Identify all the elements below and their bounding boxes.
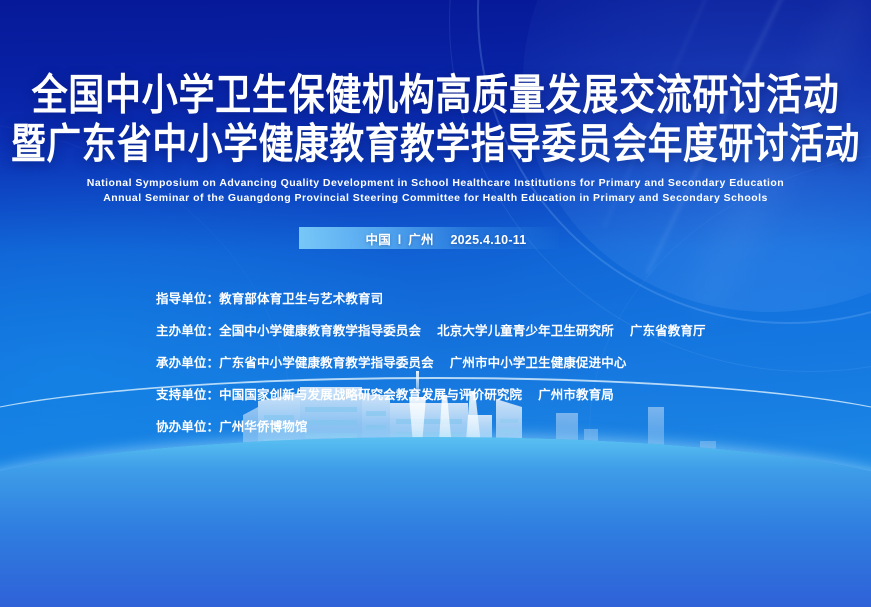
venue-date-banner: 中国 l 广州 2025.4.10-11 xyxy=(299,227,559,249)
organization-value: 教育部体育卫生与艺术教育司 xyxy=(219,288,383,307)
organization-label: 指导单位： xyxy=(156,288,219,307)
poster-title-line-2: 暨广东省中小学健康教育教学指导委员会年度研讨活动 xyxy=(0,124,871,165)
organization-row: 承办单位： 广东省中小学健康教育教学指导委员会 广州市中小学卫生健康促进中心 xyxy=(156,352,706,371)
organization-value: 广州华侨博物馆 xyxy=(219,416,307,435)
organization-values: 全国中小学健康教育教学指导委员会 北京大学儿童青少年卫生研究所 广东省教育厅 xyxy=(219,320,706,339)
organization-row: 支持单位： 中国国家创新与发展战略研究会教育发展与评价研究院 广州市教育局 xyxy=(156,384,706,403)
organization-values: 广东省中小学健康教育教学指导委员会 广州市中小学卫生健康促进中心 xyxy=(219,352,626,371)
conference-poster: 全国中小学卫生保健机构高质量发展交流研讨活动 暨广东省中小学健康教育教学指导委员… xyxy=(0,0,871,607)
organization-label: 协办单位： xyxy=(156,416,219,435)
organization-row: 指导单位： 教育部体育卫生与艺术教育司 xyxy=(156,288,706,307)
organization-label: 支持单位： xyxy=(156,384,219,403)
organization-value: 北京大学儿童青少年卫生研究所 xyxy=(437,320,614,339)
venue-city: 广州 xyxy=(408,233,434,247)
poster-content: 全国中小学卫生保健机构高质量发展交流研讨活动 暨广东省中小学健康教育教学指导委员… xyxy=(0,0,871,607)
organization-values: 教育部体育卫生与艺术教育司 xyxy=(219,288,383,307)
venue-date: 2025.4.10-11 xyxy=(450,233,526,247)
organization-row: 协办单位： 广州华侨博物馆 xyxy=(156,416,706,435)
poster-title-line-1: 全国中小学卫生保健机构高质量发展交流研讨活动 xyxy=(0,74,871,116)
venue-separator: l xyxy=(398,233,402,247)
organization-label: 承办单位： xyxy=(156,352,219,371)
organization-values: 广州华侨博物馆 xyxy=(219,416,307,435)
organization-value: 广东省中小学健康教育教学指导委员会 xyxy=(219,352,434,371)
poster-subtitle-block: National Symposium on Advancing Quality … xyxy=(0,176,871,206)
poster-title-block: 全国中小学卫生保健机构高质量发展交流研讨活动 暨广东省中小学健康教育教学指导委员… xyxy=(0,74,871,162)
venue-country: 中国 xyxy=(366,233,392,247)
poster-subtitle-line-2: Annual Seminar of the Guangdong Provinci… xyxy=(0,191,871,206)
organization-row: 主办单位： 全国中小学健康教育教学指导委员会 北京大学儿童青少年卫生研究所 广东… xyxy=(156,320,706,339)
organization-value: 广州市中小学卫生健康促进中心 xyxy=(450,352,627,371)
organization-value: 广州市教育局 xyxy=(538,384,614,403)
organization-value: 广东省教育厅 xyxy=(630,320,706,339)
organization-values: 中国国家创新与发展战略研究会教育发展与评价研究院 广州市教育局 xyxy=(219,384,614,403)
organization-list: 指导单位： 教育部体育卫生与艺术教育司 主办单位： 全国中小学健康教育教学指导委… xyxy=(156,288,706,448)
organization-value: 中国国家创新与发展战略研究会教育发展与评价研究院 xyxy=(219,384,522,403)
organization-value: 全国中小学健康教育教学指导委员会 xyxy=(219,320,421,339)
organization-label: 主办单位： xyxy=(156,320,219,339)
poster-subtitle-line-1: National Symposium on Advancing Quality … xyxy=(0,176,871,191)
venue-date-text: 中国 l 广州 2025.4.10-11 xyxy=(366,229,527,248)
